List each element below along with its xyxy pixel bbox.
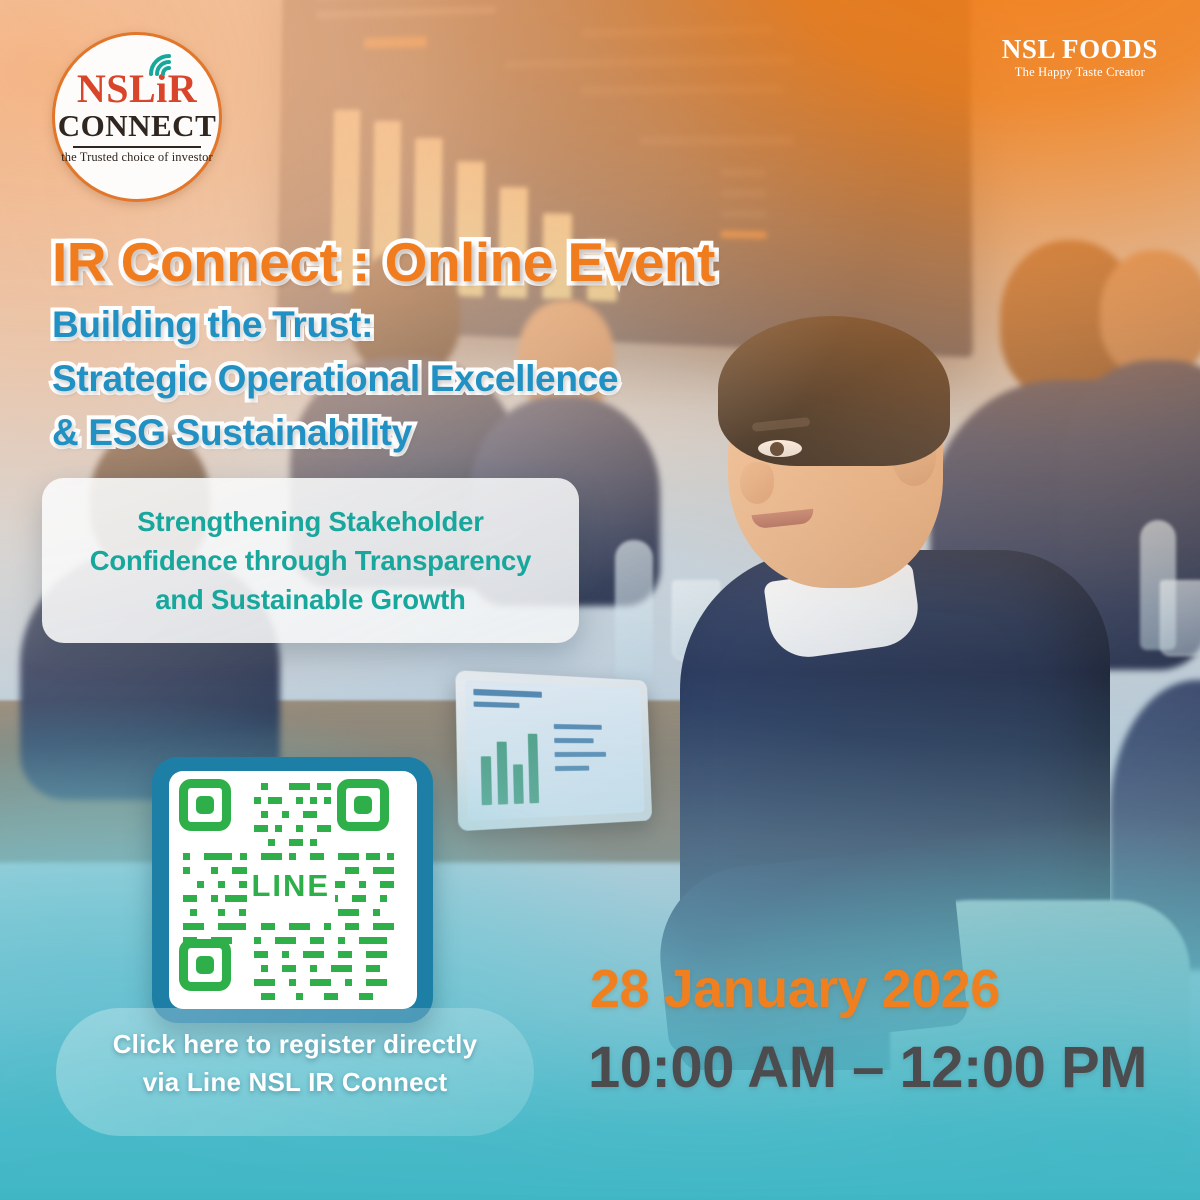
qr-brand-label: LINE: [247, 867, 336, 905]
event-date: 28 January 2026: [590, 958, 1000, 1020]
event-subhead-line-3: & ESG Sustainability: [52, 412, 412, 454]
cta-line-1: Click here to register directly: [56, 1026, 534, 1064]
event-time: 10:00 AM – 12:00 PM: [588, 1034, 1147, 1101]
event-headline: IR Connect : Online Event: [52, 230, 715, 294]
nslir-connect-logo: NSLiR CONNECT the Trusted choice of inve…: [52, 32, 222, 202]
line-qr-code[interactable]: LINE: [152, 757, 433, 1023]
qr-finder-top-left: [179, 779, 231, 831]
event-subhead-line-2: Strategic Operational Excellence: [52, 358, 618, 400]
theme-panel-text: Strengthening Stakeholder Confidence thr…: [90, 502, 532, 619]
nsl-foods-logo: NSL FOODS The Happy Taste Creator: [1002, 36, 1158, 80]
corporate-name: NSL FOODS: [1002, 36, 1158, 63]
logo-primary-text: NSLiR: [77, 69, 197, 109]
wifi-signal-icon: [147, 52, 181, 76]
logo-secondary-label: CONNECT: [58, 110, 217, 143]
cta-line-2: via Line NSL IR Connect: [56, 1064, 534, 1102]
theme-line-1: Strengthening Stakeholder: [90, 502, 532, 541]
qr-code-surface[interactable]: LINE: [169, 771, 417, 1009]
event-subhead-line-1: Building the Trust:: [52, 304, 373, 346]
theme-line-2: Confidence through Transparency: [90, 541, 532, 580]
event-poster: NSLiR CONNECT the Trusted choice of inve…: [0, 0, 1200, 1200]
corporate-tagline: The Happy Taste Creator: [1002, 65, 1158, 80]
register-cta-text[interactable]: Click here to register directly via Line…: [56, 1026, 534, 1101]
qr-finder-bot-left: [179, 939, 231, 991]
theme-line-3: and Sustainable Growth: [90, 580, 532, 619]
qr-finder-top-right: [337, 779, 389, 831]
theme-panel: Strengthening Stakeholder Confidence thr…: [42, 478, 579, 643]
logo-divider: [73, 146, 201, 148]
logo-tagline: the Trusted choice of investor: [61, 150, 213, 165]
